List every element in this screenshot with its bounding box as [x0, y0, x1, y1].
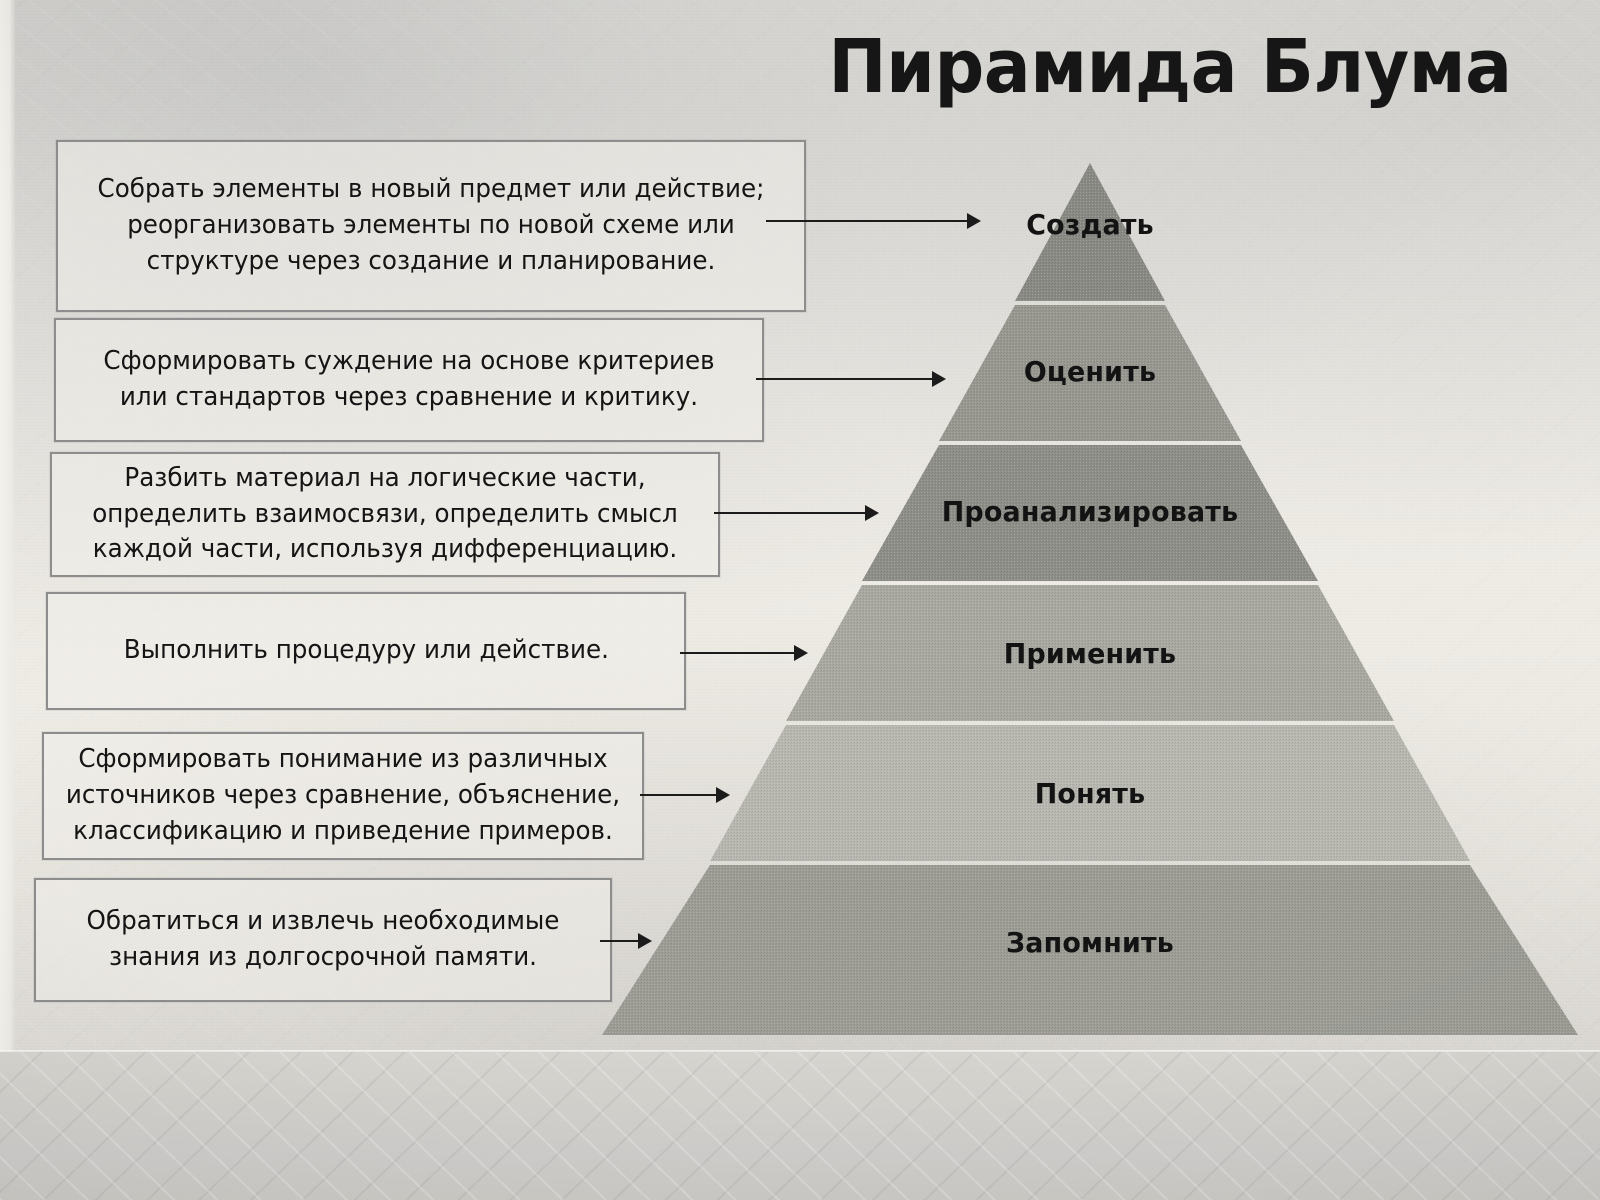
pyramid-label-apply: Применить — [1004, 637, 1176, 670]
description-text-analyze: Разбить материал на логические части, оп… — [64, 461, 707, 568]
bloom-pyramid-diagram: Пирамида Блума — [0, 0, 1600, 1200]
description-box-understand[interactable]: Сформировать понимание из различных исто… — [42, 732, 644, 860]
description-text-apply: Выполнить процедуру или действие. — [114, 633, 618, 669]
description-box-create[interactable]: Собрать элементы в новый предмет или дей… — [56, 140, 806, 312]
description-box-analyze[interactable]: Разбить материал на логические части, оп… — [50, 452, 720, 577]
pyramid-label-evaluate: Оценить — [1024, 355, 1156, 388]
description-box-evaluate[interactable]: Сформировать суждение на основе критерие… — [54, 318, 764, 442]
pyramid-label-understand: Понять — [1035, 777, 1146, 810]
description-box-apply[interactable]: Выполнить процедуру или действие. — [46, 592, 686, 710]
page-title: Пирамида Блума — [813, 24, 1527, 110]
pyramid-label-analyze: Проанализировать — [942, 495, 1239, 528]
description-text-understand: Сформировать понимание из различных исто… — [54, 742, 631, 849]
pyramid-label-remember: Запомнить — [1006, 926, 1174, 959]
description-text-create: Собрать элементы в новый предмет или дей… — [71, 172, 791, 279]
description-text-evaluate: Сформировать суждение на основе критерие… — [68, 344, 749, 415]
description-text-remember: Обратиться и извлечь необходимые знания … — [46, 904, 600, 975]
description-box-remember[interactable]: Обратиться и извлечь необходимые знания … — [34, 878, 612, 1002]
pyramid-label-create: Создать — [1026, 208, 1154, 241]
